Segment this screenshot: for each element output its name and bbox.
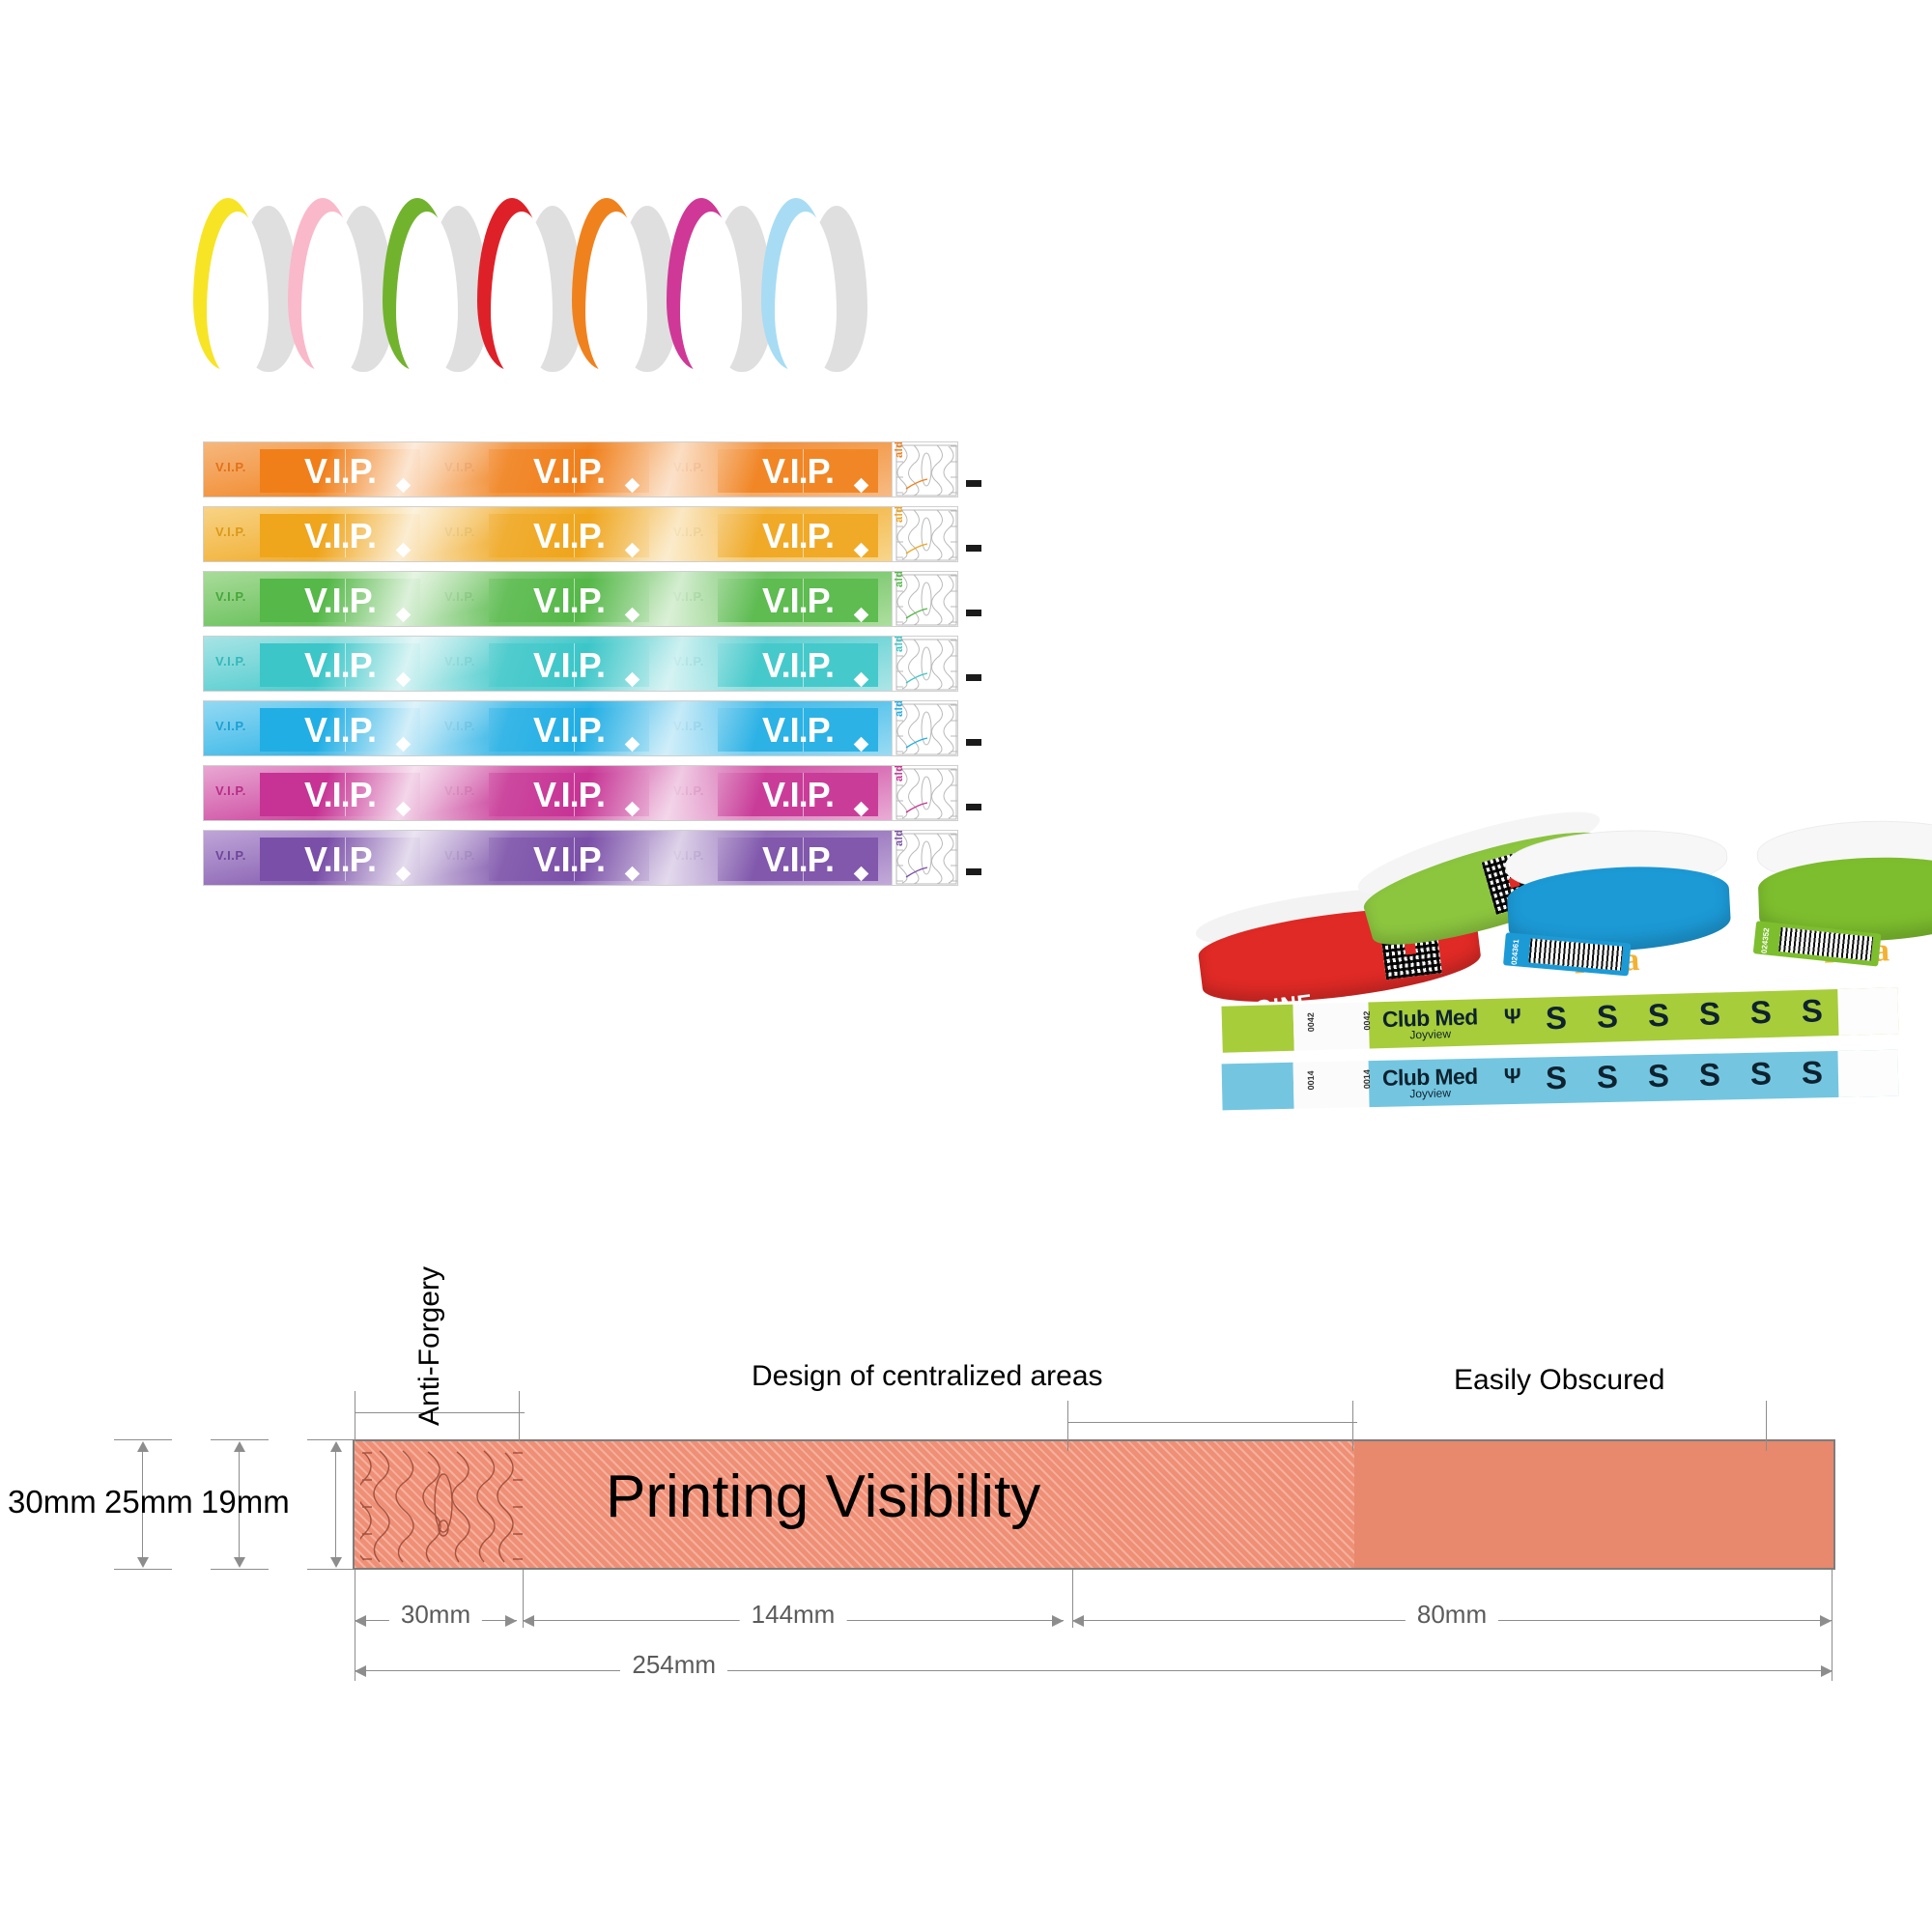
- vip-print-unit: V.I.P.V.I.P.: [204, 507, 433, 561]
- vip-strip-body: V.I.P.V.I.P.V.I.P.V.I.P.V.I.P.V.I.P.alde: [203, 571, 958, 627]
- barcode-serial: 024352: [1760, 927, 1772, 953]
- dim-arrow-up: [330, 1441, 342, 1452]
- vip-notch: [854, 737, 869, 753]
- vip-small-label: V.I.P.: [215, 654, 246, 668]
- vip-strip-magenta: V.I.P.V.I.P.V.I.P.V.I.P.V.I.P.V.I.P.alde: [203, 763, 1005, 823]
- vip-big-label: V.I.P.: [718, 708, 878, 752]
- dim-cap-top: [211, 1439, 269, 1440]
- easily-obscured-label: Easily Obscured: [1454, 1364, 1664, 1397]
- ring-front: [572, 198, 641, 370]
- vip-print-unit: V.I.P.V.I.P.: [204, 831, 433, 885]
- dim-arrow-up: [234, 1441, 245, 1452]
- vip-big-text: V.I.P.: [762, 710, 834, 751]
- vip-notch: [854, 543, 869, 558]
- vip-notch: [396, 478, 412, 494]
- trident-icon: Ψ: [1504, 1064, 1521, 1089]
- vip-end-tab: [966, 674, 981, 681]
- band-size-letter: S: [1699, 1057, 1722, 1094]
- vip-print-unit: V.I.P.V.I.P.: [204, 766, 433, 820]
- brand-alde-label: alde: [894, 572, 905, 587]
- brand-alde-label: alde: [894, 831, 905, 846]
- dim-arrow-right: [1820, 1615, 1832, 1627]
- vip-notch: [854, 867, 869, 882]
- vip-big-label: V.I.P.: [718, 643, 878, 687]
- wristband-ring-green: [383, 198, 491, 377]
- vip-big-label: V.I.P.: [489, 838, 649, 881]
- vip-security-area: alde: [892, 637, 958, 691]
- vip-big-label: V.I.P.: [260, 643, 420, 687]
- abrakadabra-wristband-photo-1: Abraka024352: [1755, 808, 1932, 960]
- vip-strip-body: V.I.P.V.I.P.V.I.P.V.I.P.V.I.P.V.I.P.alde: [203, 830, 958, 886]
- dim-arrow-left: [355, 1665, 366, 1677]
- dim-cap-bottom: [114, 1569, 172, 1570]
- vip-big-text: V.I.P.: [533, 451, 605, 492]
- vip-small-label: V.I.P.: [444, 460, 475, 474]
- vip-big-text: V.I.P.: [304, 839, 376, 880]
- band-end-segment: [1837, 987, 1898, 1036]
- vip-big-text: V.I.P.: [762, 581, 834, 621]
- dim-line: [335, 1445, 336, 1564]
- product-spec-sheet: V.I.P.V.I.P.V.I.P.V.I.P.V.I.P.V.I.P.alde…: [0, 0, 1932, 1932]
- vip-end-tab: [966, 545, 981, 552]
- band-serial-right: 0042: [1362, 1010, 1373, 1030]
- club-med-wristband-1: 00140014Club MedJoyviewΨSSSSSS: [1222, 1050, 1899, 1111]
- ring-front: [761, 198, 831, 370]
- vip-notch: [625, 672, 640, 688]
- vip-wristband-stack: V.I.P.V.I.P.V.I.P.V.I.P.V.I.P.V.I.P.alde…: [203, 440, 1014, 903]
- vip-print-unit: V.I.P.V.I.P.: [662, 701, 891, 755]
- ring-front: [383, 198, 452, 370]
- vip-big-text: V.I.P.: [762, 839, 834, 880]
- brand-alde-label: alde: [894, 507, 905, 523]
- band-size-letter: S: [1597, 1059, 1620, 1095]
- club-med-logo: Club MedJoyview: [1382, 1004, 1479, 1042]
- vip-small-label: V.I.P.: [215, 719, 246, 733]
- dim-arrow-left: [523, 1615, 534, 1627]
- vip-big-text: V.I.P.: [304, 645, 376, 686]
- dim-arrow-left: [1072, 1615, 1084, 1627]
- vip-strip-body: V.I.P.V.I.P.V.I.P.V.I.P.V.I.P.V.I.P.alde: [203, 506, 958, 562]
- band-size-letter: S: [1647, 997, 1670, 1035]
- vip-end-tab: [966, 739, 981, 746]
- vip-big-label: V.I.P.: [489, 773, 649, 816]
- dimension-diagram: 30mm25mm19mm: [0, 1246, 1932, 1932]
- vip-security-area: alde: [892, 507, 958, 561]
- vip-notch: [625, 543, 640, 558]
- vip-big-text: V.I.P.: [533, 839, 605, 880]
- vip-notch: [625, 478, 640, 494]
- centralized-areas-label: Design of centralized areas: [752, 1360, 1103, 1393]
- abrakadabra-wristband-photo-0: Abraka024361: [1503, 815, 1733, 972]
- dim-extension-line: [1832, 1570, 1833, 1681]
- vip-big-text: V.I.P.: [304, 775, 376, 815]
- vip-big-label: V.I.P.: [489, 643, 649, 687]
- barcode-serial: 024361: [1510, 939, 1520, 965]
- vip-strip-teal: V.I.P.V.I.P.V.I.P.V.I.P.V.I.P.V.I.P.alde: [203, 634, 1005, 694]
- barcode-icon: [1528, 938, 1623, 970]
- vip-big-text: V.I.P.: [304, 516, 376, 556]
- vip-big-label: V.I.P.: [260, 449, 420, 493]
- width-dimension-254mm: 254mm: [355, 1662, 1833, 1681]
- wristband-ring-magenta: [667, 198, 775, 377]
- brand-alde-label: alde: [894, 442, 905, 458]
- security-wave-svg: [360, 1447, 525, 1566]
- vip-notch: [396, 737, 412, 753]
- band-left-segment: [1222, 1063, 1294, 1111]
- band-size-letter: S: [1698, 995, 1721, 1033]
- ring-front: [193, 198, 263, 370]
- vip-security-area: alde: [892, 442, 958, 497]
- wristband-ring-pink: [288, 198, 396, 377]
- vip-big-text: V.I.P.: [533, 516, 605, 556]
- vip-notch: [854, 608, 869, 623]
- vip-end-tab: [966, 610, 981, 616]
- vip-print-unit: V.I.P.V.I.P.: [433, 831, 662, 885]
- vip-small-label: V.I.P.: [673, 719, 704, 733]
- vip-small-label: V.I.P.: [444, 589, 475, 604]
- anti-forgery-label: Anti-Forgery: [413, 1266, 446, 1426]
- vip-big-text: V.I.P.: [304, 581, 376, 621]
- vip-strip-body: V.I.P.V.I.P.V.I.P.V.I.P.V.I.P.V.I.P.alde: [203, 765, 958, 821]
- dim-arrow-down: [137, 1557, 149, 1568]
- vip-strip-body: V.I.P.V.I.P.V.I.P.V.I.P.V.I.P.V.I.P.alde: [203, 441, 958, 497]
- vip-print-unit: V.I.P.V.I.P.: [662, 637, 891, 691]
- vip-notch: [854, 802, 869, 817]
- vip-notch: [396, 867, 412, 882]
- trident-icon: Ψ: [1504, 1004, 1522, 1029]
- band-size-letter: S: [1648, 1058, 1671, 1094]
- vip-big-label: V.I.P.: [260, 708, 420, 752]
- anti-forgery-pattern: [360, 1447, 525, 1566]
- width-dimension-label: 144mm: [740, 1600, 847, 1630]
- band-size-letter: S: [1545, 1000, 1568, 1037]
- vip-notch: [625, 802, 640, 817]
- band-serial-right: 0014: [1362, 1069, 1372, 1089]
- vip-small-label: V.I.P.: [444, 719, 475, 733]
- vip-big-text: V.I.P.: [533, 645, 605, 686]
- vip-security-area: alde: [892, 831, 958, 885]
- vip-small-label: V.I.P.: [444, 525, 475, 539]
- width-dimension-label: 80mm: [1406, 1600, 1498, 1630]
- vip-security-area: alde: [892, 701, 958, 755]
- wristband-cross-section: Printing Visibility: [353, 1439, 1835, 1570]
- dim-arrow-left: [355, 1615, 366, 1627]
- vip-big-text: V.I.P.: [533, 581, 605, 621]
- vip-notch: [396, 672, 412, 688]
- vip-end-tab: [966, 804, 981, 810]
- vip-print-unit: V.I.P.V.I.P.: [433, 507, 662, 561]
- vip-small-label: V.I.P.: [215, 783, 246, 798]
- vip-small-label: V.I.P.: [215, 848, 246, 863]
- vip-small-label: V.I.P.: [673, 589, 704, 604]
- vip-small-label: V.I.P.: [673, 783, 704, 798]
- vip-notch: [396, 543, 412, 558]
- leader-line: [519, 1391, 520, 1441]
- vip-small-label: V.I.P.: [673, 848, 704, 863]
- vip-end-tab: [966, 480, 981, 487]
- vip-big-text: V.I.P.: [762, 451, 834, 492]
- vip-small-label: V.I.P.: [673, 654, 704, 668]
- dim-arrow-right: [1052, 1615, 1064, 1627]
- vip-notch: [854, 478, 869, 494]
- wristband-ring-row: [193, 198, 995, 391]
- vip-small-label: V.I.P.: [673, 460, 704, 474]
- dim-extension-line: [523, 1570, 524, 1628]
- dim-cap-bottom: [211, 1569, 269, 1570]
- vip-big-text: V.I.P.: [304, 451, 376, 492]
- vip-small-label: V.I.P.: [215, 589, 246, 604]
- vip-security-area: alde: [892, 766, 958, 820]
- wristband-ring-orange: [572, 198, 680, 377]
- vip-strip-amber: V.I.P.V.I.P.V.I.P.V.I.P.V.I.P.V.I.P.alde: [203, 504, 1005, 564]
- product-photo-group: IMAG!NE TODAY EVERYWHERE ENVIRONMENT RES…: [1188, 773, 1903, 1121]
- band-left-segment: [1221, 1005, 1293, 1053]
- vip-notch: [854, 672, 869, 688]
- vip-big-label: V.I.P.: [718, 449, 878, 493]
- width-dimension-80mm: 80mm: [1072, 1611, 1832, 1631]
- brand-alde-label: alde: [894, 701, 905, 717]
- vip-notch: [396, 802, 412, 817]
- vip-big-text: V.I.P.: [762, 516, 834, 556]
- leader-line: [1766, 1401, 1767, 1451]
- vip-print-unit: V.I.P.V.I.P.: [204, 572, 433, 626]
- band-size-letter: S: [1749, 994, 1773, 1032]
- vip-big-label: V.I.P.: [718, 514, 878, 557]
- obscured-area: [1354, 1441, 1833, 1568]
- band-size-letter: S: [1596, 998, 1619, 1036]
- vip-big-label: V.I.P.: [260, 773, 420, 816]
- vip-print-unit: V.I.P.V.I.P.: [433, 572, 662, 626]
- vip-notch: [625, 737, 640, 753]
- width-dimension-label: 254mm: [620, 1650, 727, 1680]
- band-size-letter: S: [1750, 1055, 1774, 1092]
- vip-notch: [625, 608, 640, 623]
- vip-big-label: V.I.P.: [489, 579, 649, 622]
- leader-line: [355, 1391, 355, 1441]
- dim-arrow-down: [234, 1557, 245, 1568]
- vip-end-tab: [966, 868, 981, 875]
- leader-connector: [1067, 1422, 1357, 1423]
- vip-big-text: V.I.P.: [304, 710, 376, 751]
- vip-strip-body: V.I.P.V.I.P.V.I.P.V.I.P.V.I.P.V.I.P.alde: [203, 636, 958, 692]
- dim-arrow-up: [137, 1441, 149, 1452]
- band-size-letter: S: [1546, 1060, 1569, 1096]
- vip-print-unit: V.I.P.V.I.P.: [433, 442, 662, 497]
- vip-print-unit: V.I.P.V.I.P.: [662, 442, 891, 497]
- brand-alde-label: alde: [894, 637, 905, 652]
- brand-alde-label: alde: [894, 766, 905, 781]
- wristband-ring-light-blue: [761, 198, 869, 377]
- dim-cap-top: [114, 1439, 172, 1440]
- band-white-segment: [1293, 1061, 1370, 1109]
- band-size-letter: S: [1801, 992, 1824, 1030]
- vip-notch: [625, 867, 640, 882]
- vip-print-unit: V.I.P.V.I.P.: [662, 507, 891, 561]
- width-dimension-30mm: 30mm: [355, 1611, 517, 1631]
- band-serial-left: 0014: [1306, 1070, 1316, 1090]
- wristband-ring-red: [477, 198, 585, 377]
- band-white-segment: [1293, 1003, 1369, 1051]
- vip-big-label: V.I.P.: [718, 773, 878, 816]
- vip-big-label: V.I.P.: [260, 838, 420, 881]
- vip-print-unit: V.I.P.V.I.P.: [662, 766, 891, 820]
- vip-small-label: V.I.P.: [444, 848, 475, 863]
- vip-print-unit: V.I.P.V.I.P.: [433, 766, 662, 820]
- wristband-ring-yellow: [193, 198, 301, 377]
- dim-line: [355, 1670, 1833, 1671]
- band-serial-left: 0042: [1306, 1012, 1317, 1032]
- vip-strip-orange: V.I.P.V.I.P.V.I.P.V.I.P.V.I.P.V.I.P.alde: [203, 440, 1005, 499]
- vip-small-label: V.I.P.: [673, 525, 704, 539]
- vip-strip-body: V.I.P.V.I.P.V.I.P.V.I.P.V.I.P.V.I.P.alde: [203, 700, 958, 756]
- vip-print-unit: V.I.P.V.I.P.: [204, 637, 433, 691]
- barcode-icon: [1778, 927, 1873, 961]
- ring-front: [477, 198, 547, 370]
- vip-strip-green: V.I.P.V.I.P.V.I.P.V.I.P.V.I.P.V.I.P.alde: [203, 569, 1005, 629]
- club-med-logo: Club MedJoyview: [1382, 1064, 1478, 1101]
- vip-print-unit: V.I.P.V.I.P.: [433, 701, 662, 755]
- dim-extension-line: [355, 1570, 355, 1681]
- vip-big-text: V.I.P.: [762, 775, 834, 815]
- vip-small-label: V.I.P.: [215, 460, 246, 474]
- band-size-letter: S: [1802, 1054, 1825, 1091]
- band-end-segment: [1837, 1050, 1898, 1097]
- width-dimension-label: 30mm: [389, 1600, 482, 1630]
- printing-visibility-label: Printing Visibility: [606, 1463, 1040, 1531]
- width-dimension-144mm: 144mm: [523, 1611, 1064, 1631]
- vip-big-text: V.I.P.: [533, 710, 605, 751]
- vip-big-text: V.I.P.: [533, 775, 605, 815]
- vip-small-label: V.I.P.: [444, 654, 475, 668]
- leader-line: [1067, 1401, 1068, 1451]
- height-dimension-label: 25mm: [104, 1484, 193, 1520]
- vip-print-unit: V.I.P.V.I.P.: [662, 831, 891, 885]
- vip-print-unit: V.I.P.V.I.P.: [204, 701, 433, 755]
- ring-front: [288, 198, 357, 370]
- height-dimension-label: 19mm: [201, 1484, 290, 1520]
- vip-strip-purple: V.I.P.V.I.P.V.I.P.V.I.P.V.I.P.V.I.P.alde: [203, 828, 1005, 888]
- vip-big-label: V.I.P.: [718, 838, 878, 881]
- vip-big-label: V.I.P.: [718, 579, 878, 622]
- ring-front: [667, 198, 736, 370]
- dim-arrow-right: [505, 1615, 517, 1627]
- dim-arrow-down: [330, 1557, 342, 1568]
- leader-line: [1352, 1401, 1353, 1451]
- vip-notch: [396, 608, 412, 623]
- vip-print-unit: V.I.P.V.I.P.: [204, 442, 433, 497]
- dim-extension-line: [1072, 1570, 1073, 1628]
- vip-small-label: V.I.P.: [215, 525, 246, 539]
- vip-big-label: V.I.P.: [489, 708, 649, 752]
- vip-big-label: V.I.P.: [489, 449, 649, 493]
- vip-print-unit: V.I.P.V.I.P.: [662, 572, 891, 626]
- vip-big-label: V.I.P.: [489, 514, 649, 557]
- vip-big-label: V.I.P.: [260, 579, 420, 622]
- vip-big-text: V.I.P.: [762, 645, 834, 686]
- vip-big-label: V.I.P.: [260, 514, 420, 557]
- vip-small-label: V.I.P.: [444, 783, 475, 798]
- vip-print-unit: V.I.P.V.I.P.: [433, 637, 662, 691]
- vip-strip-blue: V.I.P.V.I.P.V.I.P.V.I.P.V.I.P.V.I.P.alde: [203, 698, 1005, 758]
- height-dimension-label: 30mm: [8, 1484, 97, 1520]
- vip-security-area: alde: [892, 572, 958, 626]
